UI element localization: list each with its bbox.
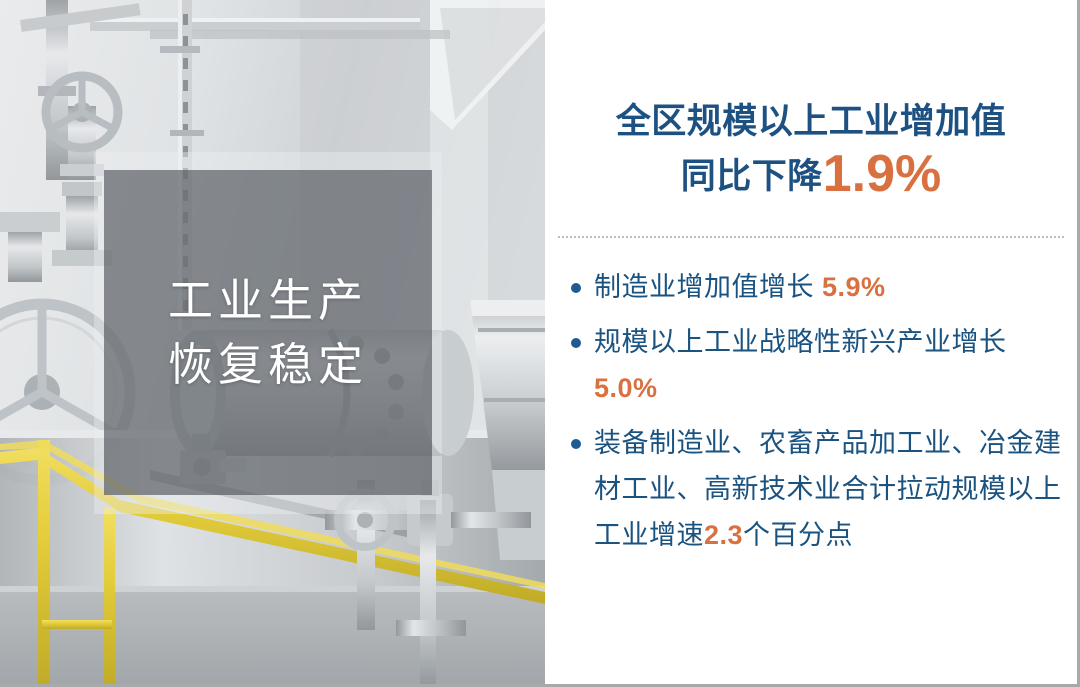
bullet-1-value: 5.9%	[822, 272, 886, 302]
slide-root: 工业生产 恢复稳定 全区规模以上工业增加值 同比下降1.9% 制造业增加值增长 …	[0, 0, 1080, 687]
headline-line-2-prefix: 同比下降	[681, 157, 823, 196]
bullet-dot-icon	[571, 283, 581, 293]
headline-value: 1.9%	[823, 145, 942, 203]
headline: 全区规模以上工业增加值 同比下降1.9%	[565, 96, 1057, 203]
bullet-dot-icon	[571, 338, 581, 348]
bullet-2-value: 5.0%	[594, 373, 658, 403]
content-panel: 全区规模以上工业增加值 同比下降1.9% 制造业增加值增长 5.9% 规模以上工…	[545, 0, 1077, 687]
bullet-dot-icon	[571, 439, 581, 449]
bullet-3-value: 2.3	[704, 520, 743, 550]
headline-line-1: 全区规模以上工业增加值	[565, 96, 1057, 148]
industrial-photo: 工业生产 恢复稳定	[0, 0, 545, 687]
dotted-divider	[558, 236, 1064, 238]
bullet-3-suffix: 个百分点	[743, 520, 853, 550]
list-item: 规模以上工业战略性新兴产业增长 5.0%	[558, 319, 1068, 411]
bullet-1-text: 制造业增加值增长	[594, 272, 822, 302]
caption-line-1: 工业生产	[168, 269, 368, 333]
bullet-list: 制造业增加值增长 5.9% 规模以上工业战略性新兴产业增长 5.0% 装备制造业…	[558, 264, 1068, 567]
caption-text: 工业生产 恢复稳定	[104, 170, 432, 495]
caption-line-2: 恢复稳定	[168, 333, 368, 397]
list-item: 制造业增加值增长 5.9%	[558, 264, 1068, 310]
headline-line-2: 同比下降1.9%	[565, 148, 1057, 203]
list-item: 装备制造业、农畜产品加工业、冶金建材工业、高新技术业合计拉动规模以上工业增速2.…	[558, 420, 1068, 558]
bullet-2-text: 规模以上工业战略性新兴产业增长	[594, 327, 1007, 357]
